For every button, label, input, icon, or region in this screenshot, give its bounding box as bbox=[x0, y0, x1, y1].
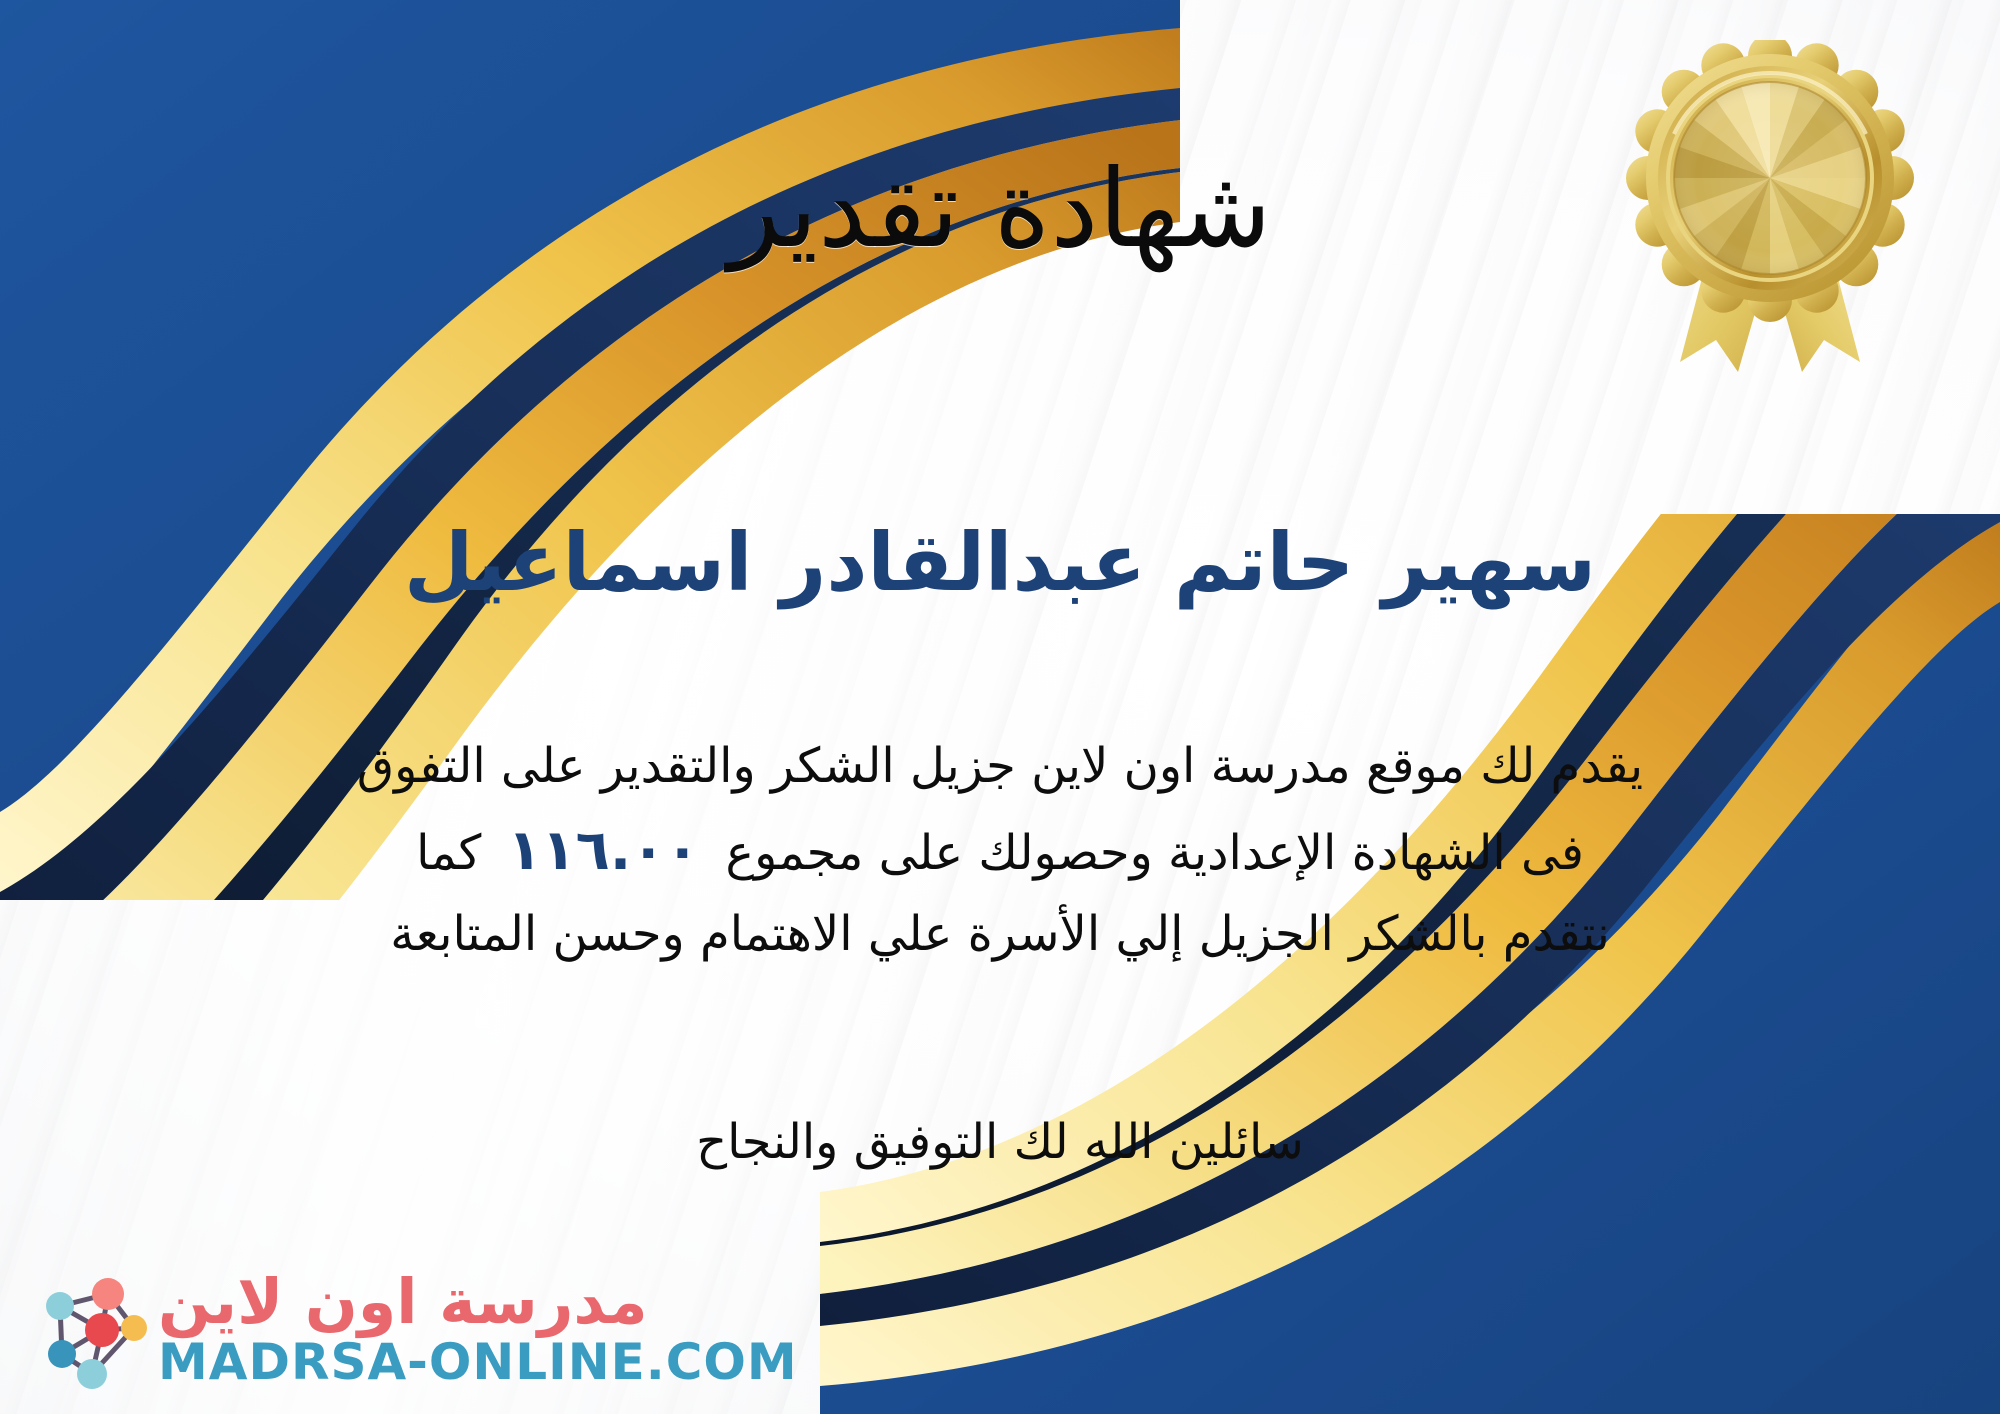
closing-wish-line: سائلين الله لك التوفيق والنجاح bbox=[0, 1106, 2000, 1178]
certificate-page: شهادة تقدير سهير حاتم عبدالقادر اسماعيل … bbox=[0, 0, 2000, 1414]
brand-name-arabic: مدرسة اون لاين bbox=[158, 1271, 648, 1333]
body-line-1: يقدم لك موقع مدرسة اون لاين جزيل الشكر و… bbox=[60, 728, 1940, 806]
brand-logo[interactable]: مدرسة اون لاين MADRSA-ONLINE.COM bbox=[30, 1266, 798, 1392]
page-title: شهادة تقدير bbox=[0, 150, 2000, 271]
network-nodes-icon bbox=[30, 1266, 148, 1392]
recipient-name: سهير حاتم عبدالقادر اسماعيل bbox=[0, 516, 2000, 610]
body-line-2: فى الشهادة الإعدادية وحصولك على مجموع١١٦… bbox=[60, 806, 1940, 897]
certificate-body: يقدم لك موقع مدرسة اون لاين جزيل الشكر و… bbox=[60, 728, 1940, 974]
grade-total-value: ١١٦.٠٠ bbox=[481, 818, 725, 883]
body-line-2-suffix: كما bbox=[416, 825, 481, 881]
brand-text-block: مدرسة اون لاين MADRSA-ONLINE.COM bbox=[158, 1271, 798, 1387]
brand-url: MADRSA-ONLINE.COM bbox=[158, 1337, 798, 1387]
body-line-3: نتقدم بالشكر الجزيل إلي الأسرة علي الاهت… bbox=[60, 896, 1940, 974]
body-line-2-prefix: فى الشهادة الإعدادية وحصولك على مجموع bbox=[725, 825, 1583, 881]
certificate-content: شهادة تقدير سهير حاتم عبدالقادر اسماعيل … bbox=[0, 0, 2000, 1414]
